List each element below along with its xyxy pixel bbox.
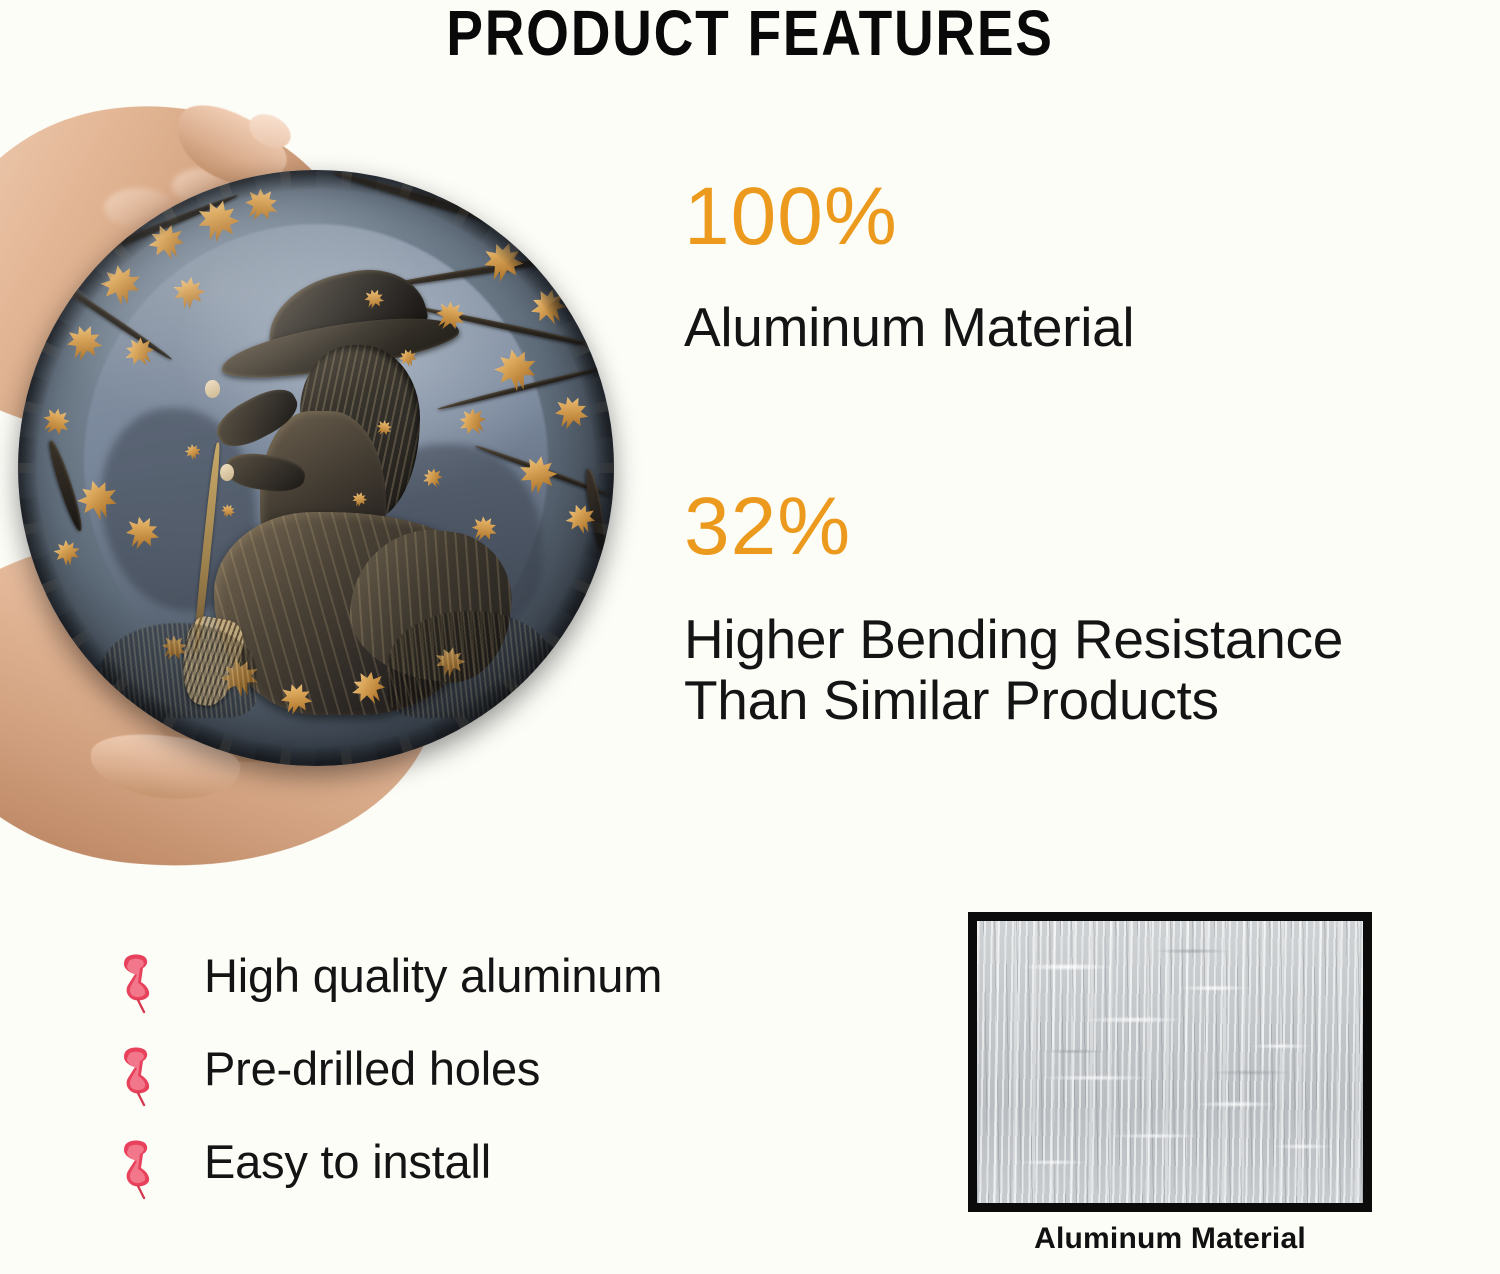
aluminum-texture-swatch (968, 912, 1372, 1212)
ring-scrollwork (18, 170, 614, 766)
stat-description-bending-line1: Higher Bending Resistance (684, 610, 1343, 669)
round-metal-sign (18, 170, 614, 766)
swatch-caption: Aluminum Material (968, 1222, 1372, 1256)
stat-number-100: 100% (684, 176, 1134, 258)
pushpin-icon (116, 1045, 160, 1107)
list-item: Pre-drilled holes (112, 1043, 872, 1136)
list-item: High quality aluminum (112, 950, 872, 1043)
stat-description-bending-line2: Than Similar Products (684, 671, 1343, 730)
stat-description-aluminum: Aluminum Material (684, 298, 1134, 357)
product-photo (0, 96, 662, 826)
bullet-label: Pre-drilled holes (204, 1041, 540, 1096)
stat-block-aluminum: 100% Aluminum Material (684, 176, 1134, 357)
page-title: PRODUCT FEATURES (105, 0, 1395, 70)
stat-block-bending: 32% Higher Bending Resistance Than Simil… (684, 486, 1343, 731)
bullet-label: High quality aluminum (204, 948, 662, 1003)
bullet-label: Easy to install (204, 1134, 491, 1189)
product-features-infographic: PRODUCT FEATURES (0, 0, 1500, 1274)
pushpin-icon (116, 952, 160, 1014)
aluminum-swatch-block: Aluminum Material (968, 912, 1376, 1272)
brushed-metal-streaks (986, 930, 1354, 1194)
list-item: Easy to install (112, 1136, 872, 1229)
feature-bullet-list: High quality aluminum Pre-drilled holes (112, 950, 872, 1229)
pushpin-icon (116, 1138, 160, 1200)
stat-number-32: 32% (684, 486, 1343, 568)
